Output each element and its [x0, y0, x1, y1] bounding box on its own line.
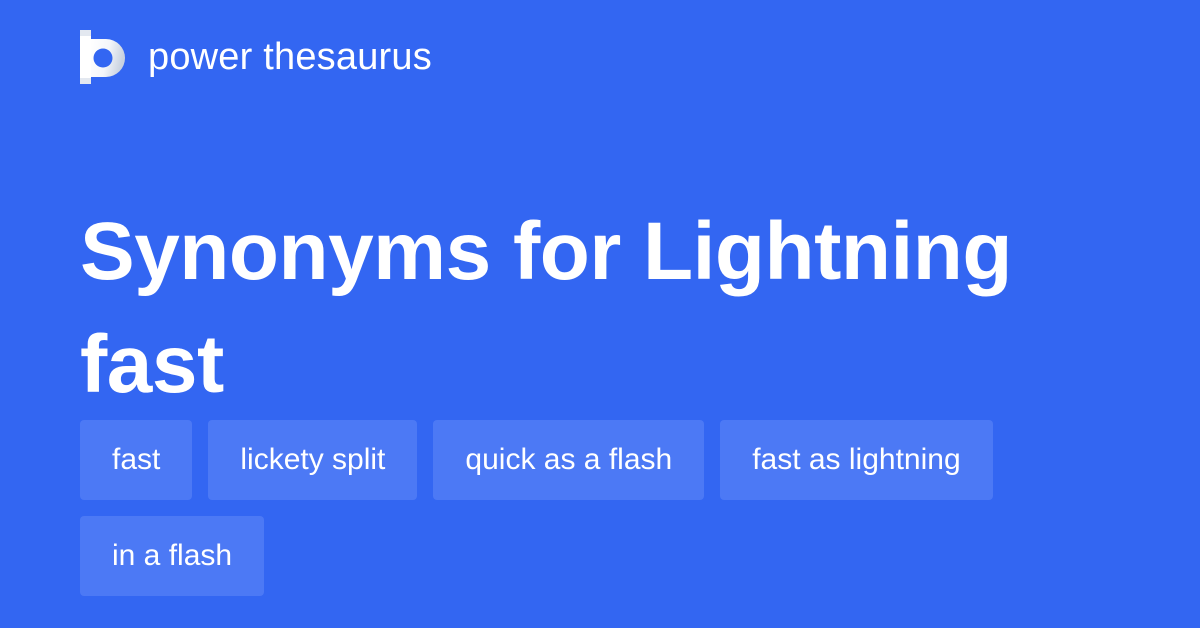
power-thesaurus-b-logo-icon: [80, 30, 126, 84]
synonym-chip[interactable]: fast: [80, 420, 192, 500]
synonym-chip[interactable]: in a flash: [80, 516, 264, 596]
page-title: Synonyms for Lightning fast: [80, 195, 1140, 421]
page-root: power thesaurus Synonyms for Lightning f…: [0, 0, 1200, 628]
synonym-chip[interactable]: fast as lightning: [720, 420, 992, 500]
synonym-chip[interactable]: quick as a flash: [433, 420, 704, 500]
brand-name: power thesaurus: [148, 38, 432, 76]
synonym-chip-list: fastlickety splitquick as a flashfast as…: [80, 420, 1140, 596]
brand-header[interactable]: power thesaurus: [80, 26, 432, 88]
synonym-chip[interactable]: lickety split: [208, 420, 417, 500]
page-title-line-1: Synonyms for Lightning: [80, 195, 1140, 308]
page-title-line-2: fast: [80, 308, 1140, 421]
